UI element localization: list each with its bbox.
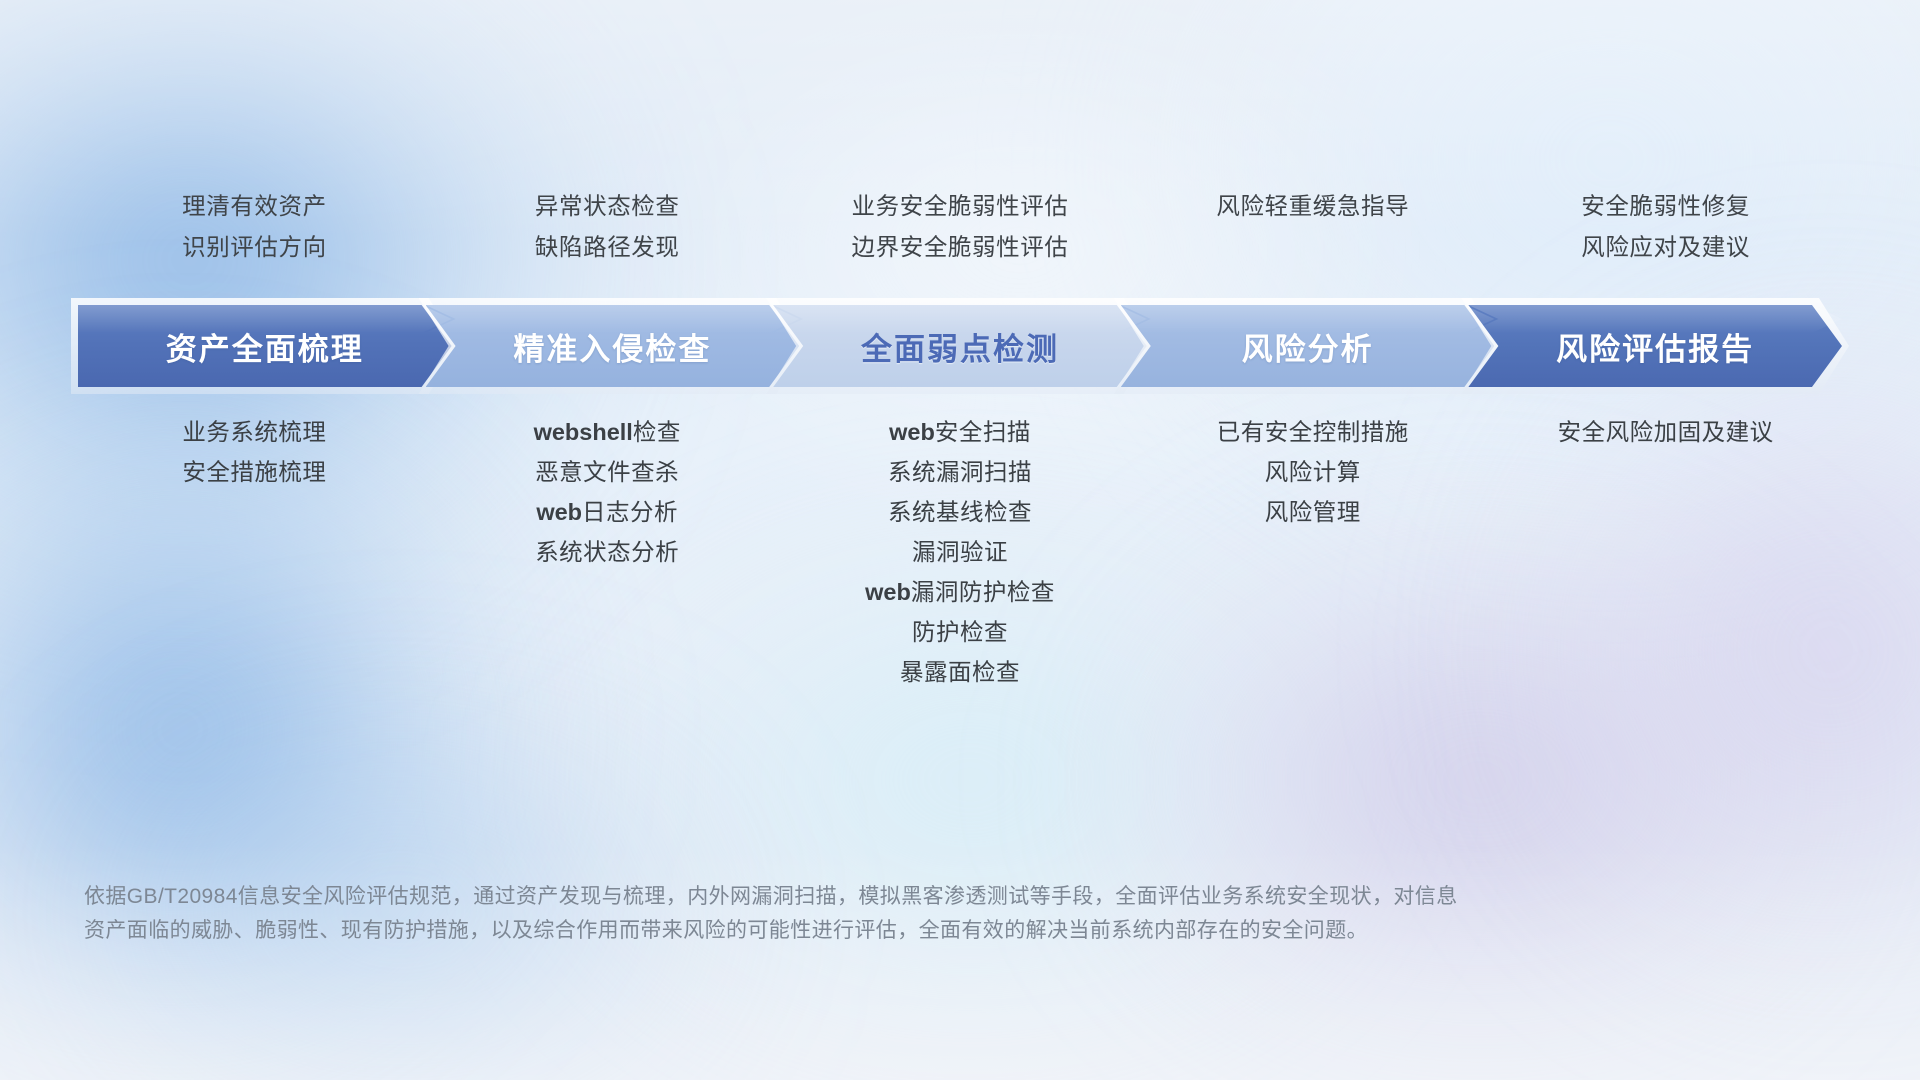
stage-arrow-asset-inventory[interactable]: 资产全面梳理 xyxy=(78,305,452,387)
stage-arrow-intrusion-check[interactable]: 精准入侵检查 xyxy=(426,305,800,387)
list-item: 系统漏洞扫描 xyxy=(888,452,1032,492)
top-note: 风险应对及建议 xyxy=(1581,227,1750,268)
items-intrusion-check: webshell检查 恶意文件查杀 web日志分析 系统状态分析 xyxy=(431,412,784,572)
bottom-lists-row: 业务系统梳理 安全措施梳理 webshell检查 恶意文件查杀 web日志分析 … xyxy=(78,412,1842,692)
top-notes-risk-analysis: 风险轻重缓急指导 xyxy=(1136,186,1489,268)
top-note: 缺陷路径发现 xyxy=(535,227,680,268)
list-item: 已有安全控制措施 xyxy=(1217,412,1409,452)
top-note: 风险轻重缓急指导 xyxy=(1216,186,1409,227)
items-risk-analysis: 已有安全控制措施 风险计算 风险管理 xyxy=(1136,412,1489,532)
process-arrow-band: 资产全面梳理 精准入侵检查 全面弱点检测 风险分析 xyxy=(78,305,1842,387)
slide-canvas: 理清有效资产 识别评估方向 异常状态检查 缺陷路径发现 业务安全脆弱性评估 边界… xyxy=(0,0,1920,1080)
items-asset-inventory: 业务系统梳理 安全措施梳理 xyxy=(78,412,431,492)
top-notes-asset-inventory: 理清有效资产 识别评估方向 xyxy=(78,186,431,268)
items-risk-report: 安全风险加固及建议 xyxy=(1489,412,1842,452)
footer-line-2: 资产面临的威胁、脆弱性、现有防护措施，以及综合作用而带来风险的可能性进行评估，全… xyxy=(84,914,1644,948)
list-item: 安全风险加固及建议 xyxy=(1558,412,1774,452)
list-item: 业务系统梳理 xyxy=(182,412,326,452)
list-item: 系统状态分析 xyxy=(535,532,679,572)
list-item: 风险计算 xyxy=(1265,452,1361,492)
top-notes-weakness-detection: 业务安全脆弱性评估 边界安全脆弱性评估 xyxy=(784,186,1137,268)
top-note: 理清有效资产 xyxy=(182,186,327,227)
top-note: 边界安全脆弱性评估 xyxy=(852,227,1069,268)
list-item: web安全扫描 xyxy=(889,412,1031,452)
list-item: 防护检查 xyxy=(912,612,1008,652)
stage-arrow-label: 风险评估报告 xyxy=(1556,324,1754,369)
top-notes-intrusion-check: 异常状态检查 缺陷路径发现 xyxy=(431,186,784,268)
top-notes-risk-report: 安全脆弱性修复 风险应对及建议 xyxy=(1489,186,1842,268)
footer-description: 依据GB/T20984信息安全风险评估规范，通过资产发现与梳理，内外网漏洞扫描，… xyxy=(84,880,1644,948)
stage-arrow-risk-analysis[interactable]: 风险分析 xyxy=(1121,305,1495,387)
top-notes-row: 理清有效资产 识别评估方向 异常状态检查 缺陷路径发现 业务安全脆弱性评估 边界… xyxy=(78,186,1842,268)
list-item: 恶意文件查杀 xyxy=(535,452,679,492)
list-item: web漏洞防护检查 xyxy=(865,572,1055,612)
top-note: 业务安全脆弱性评估 xyxy=(852,186,1069,227)
stage-arrow-risk-report[interactable]: 风险评估报告 xyxy=(1468,305,1842,387)
list-item: 安全措施梳理 xyxy=(182,452,326,492)
top-note: 异常状态检查 xyxy=(535,186,680,227)
items-weakness-detection: web安全扫描 系统漏洞扫描 系统基线检查 漏洞验证 web漏洞防护检查 防护检… xyxy=(784,412,1137,692)
footer-line-1: 依据GB/T20984信息安全风险评估规范，通过资产发现与梳理，内外网漏洞扫描，… xyxy=(84,880,1644,914)
stage-arrow-label: 精准入侵检查 xyxy=(513,324,711,369)
stage-arrow-label: 全面弱点检测 xyxy=(861,324,1059,369)
list-item: webshell检查 xyxy=(534,412,681,452)
list-item: 风险管理 xyxy=(1265,492,1361,532)
list-item: 漏洞验证 xyxy=(912,532,1008,572)
stage-arrow-weakness-detection[interactable]: 全面弱点检测 xyxy=(773,305,1147,387)
stage-arrow-label: 资产全面梳理 xyxy=(166,324,364,369)
list-item: 暴露面检查 xyxy=(900,652,1020,692)
list-item: web日志分析 xyxy=(536,492,678,532)
stage-arrow-label: 风险分析 xyxy=(1242,324,1374,369)
list-item: 系统基线检查 xyxy=(888,492,1032,532)
top-note: 安全脆弱性修复 xyxy=(1581,186,1750,227)
top-note: 识别评估方向 xyxy=(182,227,327,268)
